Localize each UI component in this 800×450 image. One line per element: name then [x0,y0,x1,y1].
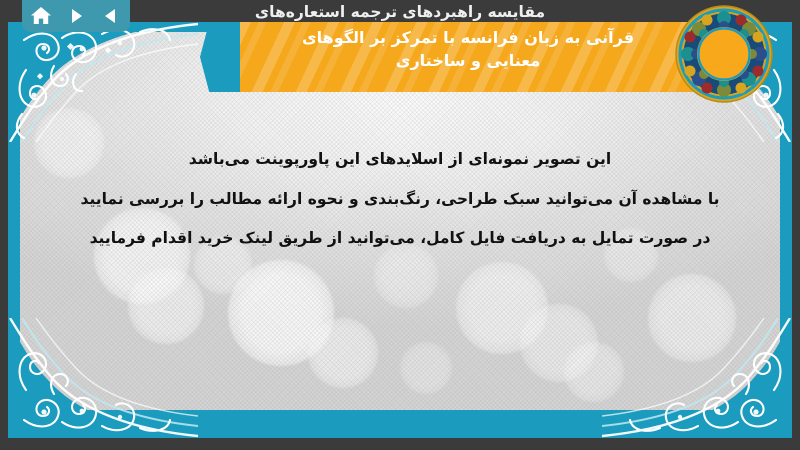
app-window: این تصویر نمونه‌ای از اسلایدهای این پاور… [0,0,800,450]
banner-title-line-1: قرآنی به زبان فرانسه با تمرکز بر الگوهای [302,26,634,49]
ornament-corner-bottom-right [602,318,792,438]
banner-teal-tab [200,22,242,92]
body-line-3: در صورت تمایل به دریافت فایل کامل، می‌تو… [32,219,768,259]
body-line-1: این تصویر نمونه‌ای از اسلایدهای این پاور… [32,140,768,180]
islamic-medallion-icon [672,2,776,106]
body-line-2: با مشاهده آن می‌توانید سبک طراحی، رنگ‌بن… [32,180,768,220]
banner-title-line-2: معنایی و ساختاری [396,49,540,72]
slide-body-text: این تصویر نمونه‌ای از اسلایدهای این پاور… [32,140,768,259]
ornament-corner-bottom-left [8,318,198,438]
banner-orange-strip: قرآنی به زبان فرانسه با تمرکز بر الگوهای… [240,22,696,92]
banner-title-text: قرآنی به زبان فرانسه با تمرکز بر الگوهای… [240,22,696,92]
